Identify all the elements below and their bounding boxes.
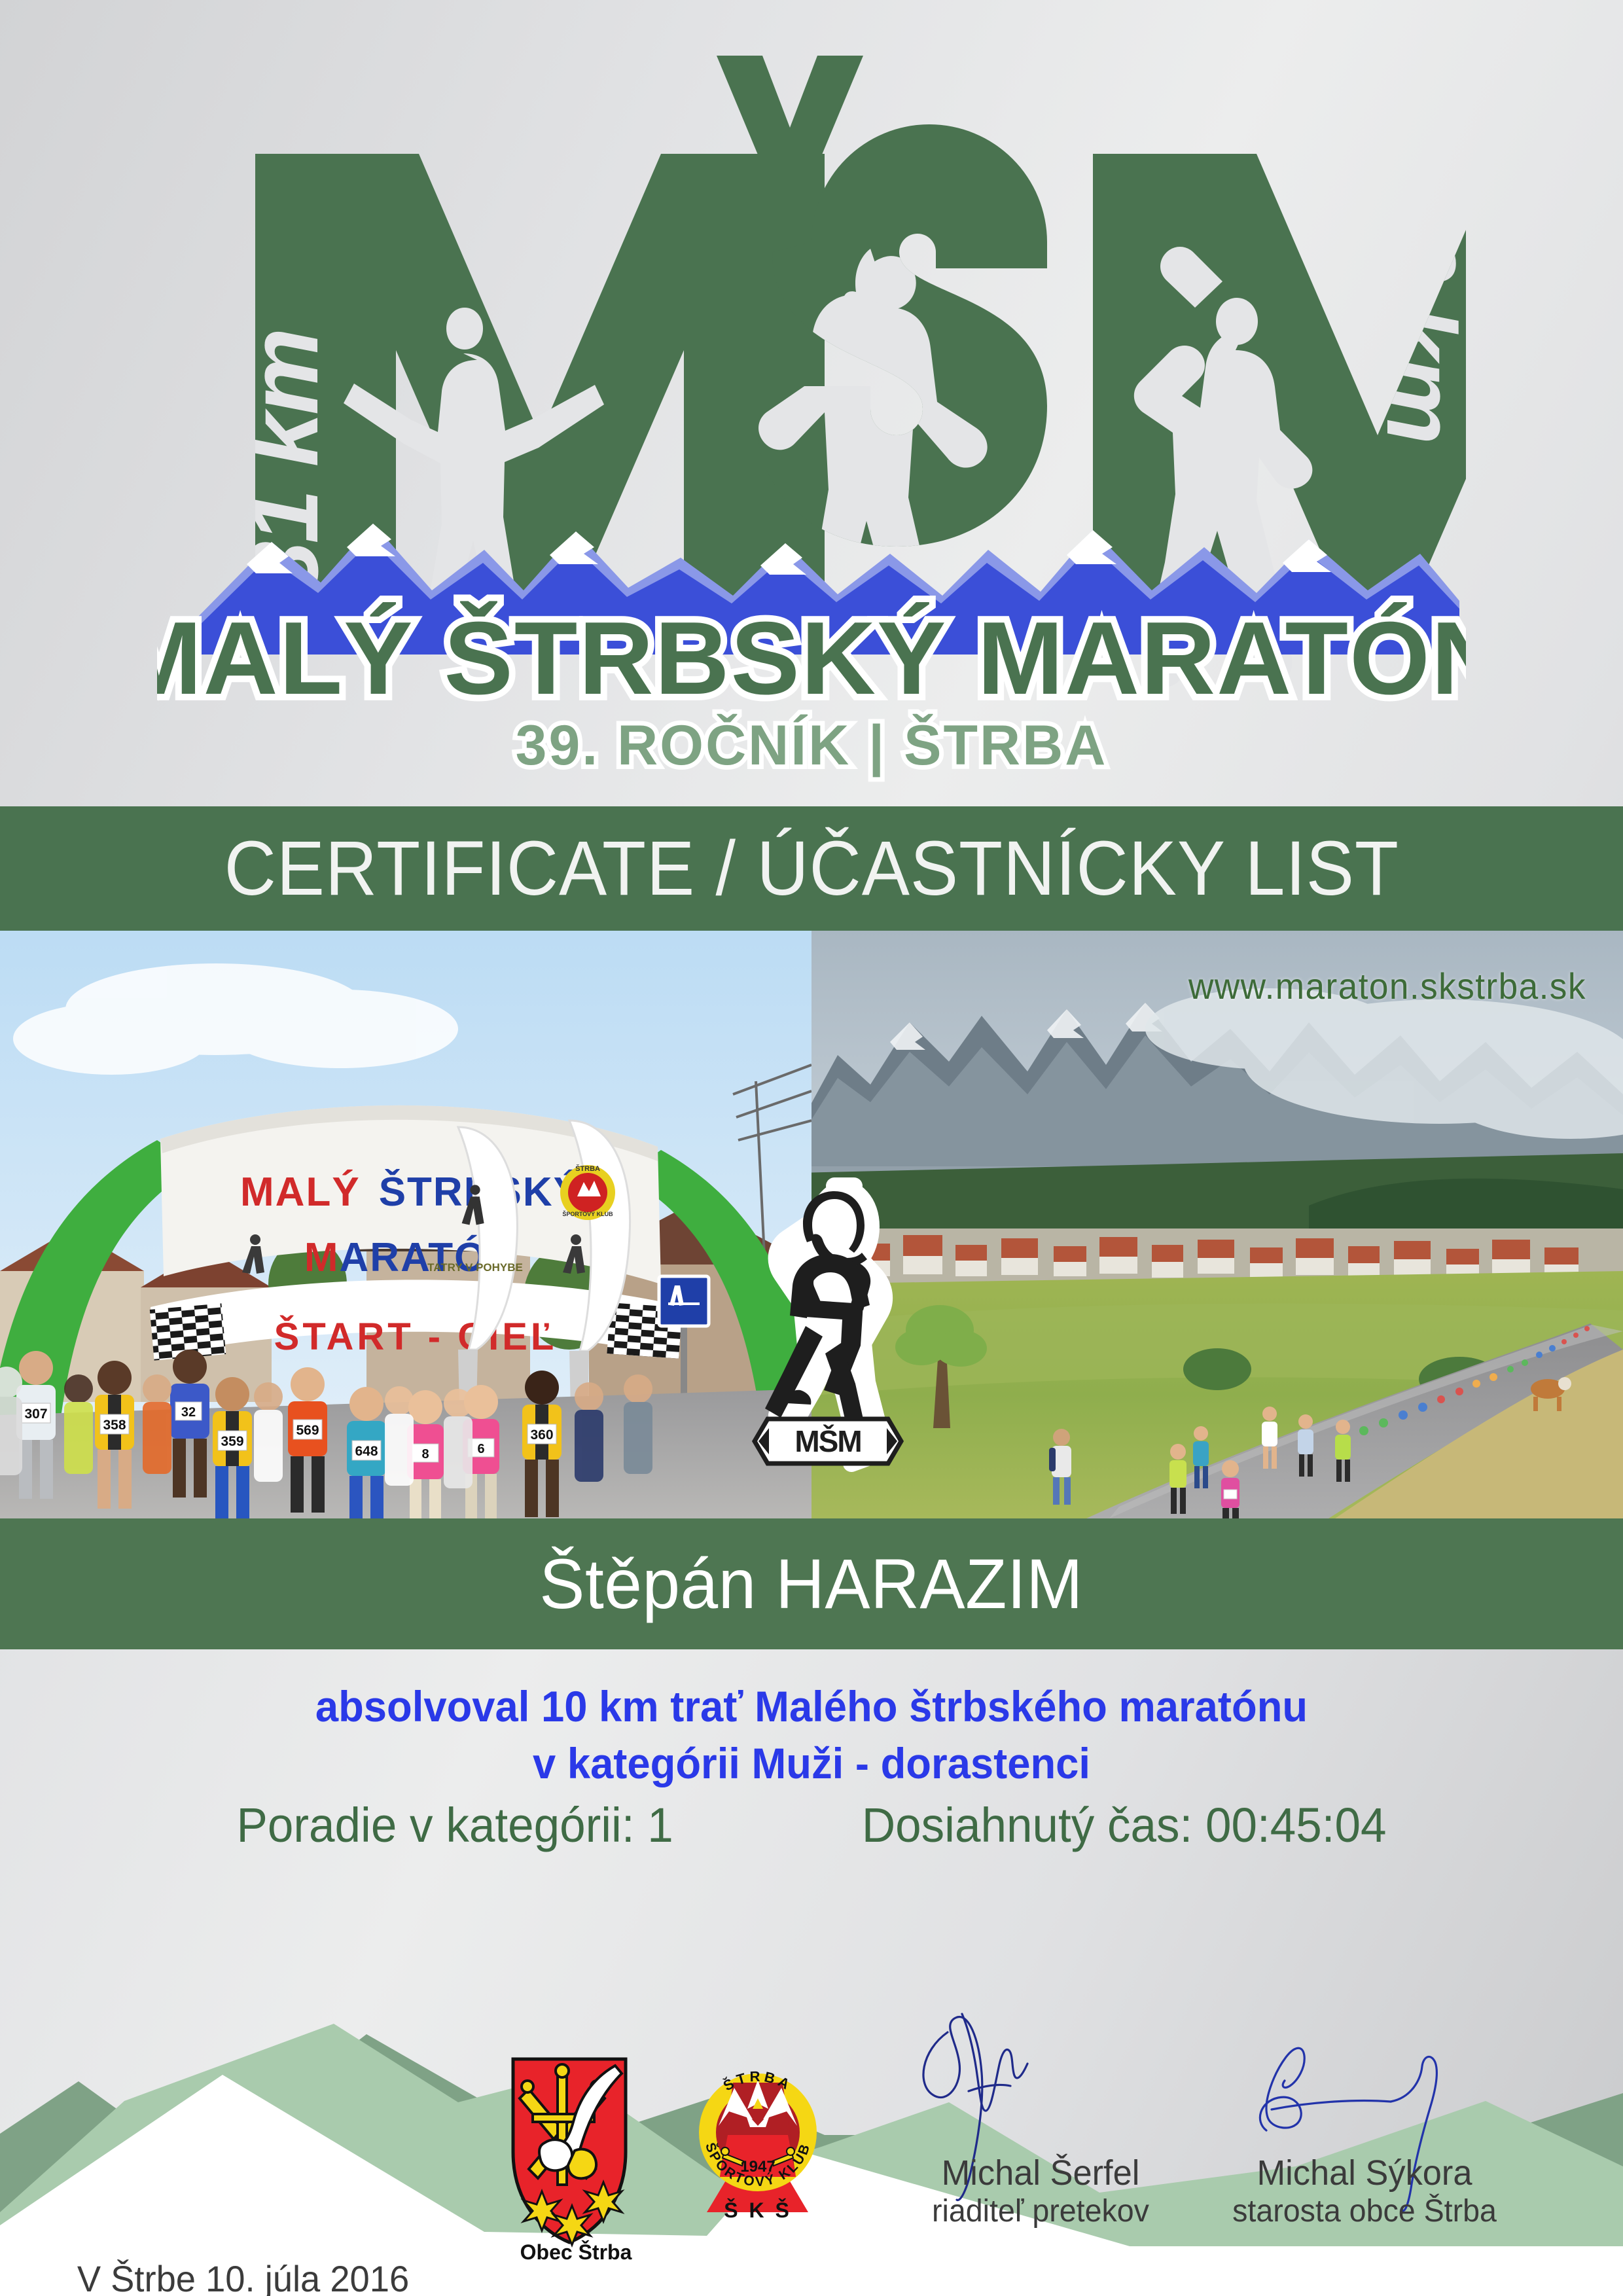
results-row: Poradie v kategórii: 1 Dosiahnutý čas: 0… <box>33 1801 1591 1850</box>
photo-start-line: MALÝŠTRBSKÝ MARATÓN ŠTART - CIEĽ <box>0 931 811 1518</box>
description-block: absolvoval 10 km trať Malého štrbského m… <box>33 1678 1591 1792</box>
signature-scribble-director <box>870 2013 1211 2163</box>
photo-road-tatras: www.maraton.skstrba.sk <box>811 931 1623 1518</box>
description-line-1: absolvoval 10 km trať Malého štrbského m… <box>33 1678 1591 1735</box>
svg-text:307: 307 <box>24 1407 47 1422</box>
svg-text:ŠTART - CIEĽ: ŠTART - CIEĽ <box>274 1316 558 1358</box>
signature-name-mayor: Michal Sýkora <box>1200 2153 1529 2193</box>
svg-text:8: 8 <box>421 1447 429 1462</box>
svg-text:569: 569 <box>296 1423 319 1438</box>
svg-text:ŠTRBA: ŠTRBA <box>575 1164 600 1173</box>
obec-strba-label: Obec Štrba <box>520 2240 632 2263</box>
sks-club-emblem: 1947 ŠTRBA ŠPORTOVÝ KLUB Š K Š <box>687 2049 828 2245</box>
finish-time: Dosiahnutý čas: 00:45:04 <box>862 1801 1387 1850</box>
certificate-page: 31 km <box>0 0 1623 2296</box>
svg-text:360: 360 <box>530 1427 553 1443</box>
svg-text:32: 32 <box>181 1405 196 1420</box>
obec-strba-emblem: Obec Štrba <box>504 2054 648 2263</box>
certificate-body: absolvoval 10 km trať Malého štrbského m… <box>0 1649 1623 1911</box>
rank-in-category: Poradie v kategórii: 1 <box>236 1801 673 1850</box>
signature-block-director: Michal Šerfel riaditeľ pretekov <box>870 2153 1211 2231</box>
certificate-banner: CERTIFICATE / ÚČASTNÍCKY LIST <box>0 806 1623 931</box>
signature-scribble-mayor <box>1194 2013 1535 2163</box>
photo-strip: MALÝŠTRBSKÝ MARATÓN ŠTART - CIEĽ <box>0 931 1623 1518</box>
participant-name-banner: Štěpán HARAZIM <box>0 1518 1623 1649</box>
participant-name: Štěpán HARAZIM <box>540 1549 1084 1619</box>
svg-text:10 km: 10 km <box>1366 177 1466 442</box>
svg-text:648: 648 <box>355 1444 378 1459</box>
msm-logo: 31 km <box>157 26 1466 798</box>
logo-subtitle-text: 39. ROČNÍK | ŠTRBA <box>516 714 1108 777</box>
svg-text:TATRY V POHYBE: TATRY V POHYBE <box>427 1261 523 1274</box>
svg-text:359: 359 <box>221 1434 243 1449</box>
description-line-2: v kategórii Muži - dorastenci <box>33 1735 1591 1792</box>
issue-date: V Štrbe 10. júla 2016 <box>77 2261 409 2296</box>
svg-text:6: 6 <box>477 1442 484 1456</box>
logo-header: 31 km <box>0 0 1623 806</box>
sks-bottom-text: Š K Š <box>724 2198 792 2222</box>
logo-title-text: MALÝ ŠTRBSKÝ MARATÓN <box>157 601 1466 716</box>
signature-role-director: riaditeľ pretekov <box>876 2193 1205 2231</box>
signature-block-mayor: Michal Sýkora starosta obce Štrba <box>1194 2153 1535 2231</box>
svg-text:ŠPORTOVÝ KLUB: ŠPORTOVÝ KLUB <box>562 1210 613 1217</box>
signature-name-director: Michal Šerfel <box>876 2153 1205 2193</box>
svg-text:358: 358 <box>103 1418 126 1433</box>
signature-role-mayor: starosta obce Štrba <box>1200 2193 1529 2231</box>
website-url[interactable]: www.maraton.skstrba.sk <box>1188 965 1586 1007</box>
certificate-title: CERTIFICATE / ÚČASTNÍCKY LIST <box>224 830 1399 907</box>
svg-text:MALÝŠTRBSKÝ: MALÝŠTRBSKÝ <box>240 1170 582 1215</box>
